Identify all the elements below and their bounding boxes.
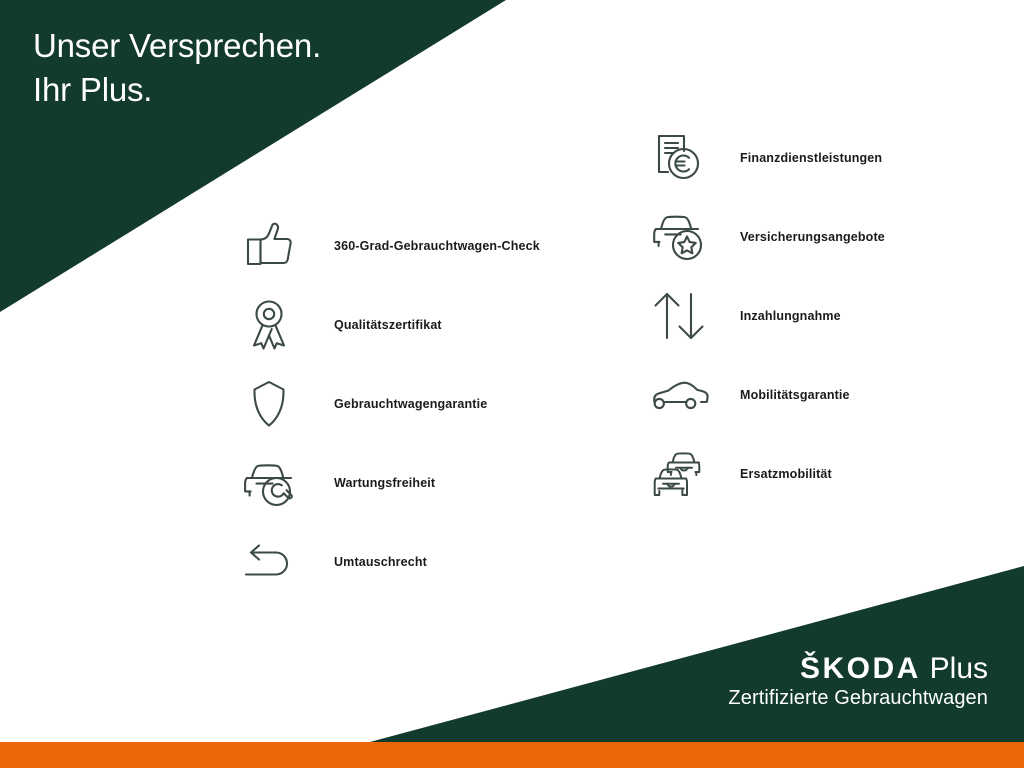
- feature-item: 360-Grad-Gebrauchtwagen-Check: [238, 206, 598, 285]
- headline-line-2: Ihr Plus.: [33, 71, 152, 108]
- feature-item: Gebrauchtwagengarantie: [238, 364, 598, 443]
- feature-label: Qualitätszertifikat: [334, 318, 442, 332]
- feature-item: Finanzdienstleistungen: [648, 118, 978, 197]
- document-euro-icon: [648, 127, 710, 189]
- return-arrow-icon: [238, 531, 300, 593]
- feature-label: Umtauschrecht: [334, 555, 427, 569]
- feature-label: Finanzdienstleistungen: [740, 151, 882, 165]
- brand-lockup: ŠKODA Plus Zertifizierte Gebrauchtwagen: [728, 653, 988, 712]
- feature-item: Wartungsfreiheit: [238, 443, 598, 522]
- thumbs-up-icon: [238, 215, 300, 277]
- car-star-icon: [648, 206, 710, 268]
- brand-title: ŠKODA Plus: [728, 653, 988, 685]
- car-side-icon: [648, 364, 710, 426]
- car-wrench-icon: [238, 452, 300, 514]
- feature-label: Ersatzmobilität: [740, 467, 832, 481]
- brand-subtitle: Zertifizierte Gebrauchtwagen: [728, 686, 988, 711]
- feature-item: Umtauschrecht: [238, 522, 598, 601]
- feature-label: Inzahlungnahme: [740, 309, 841, 323]
- two-cars-icon: [648, 443, 710, 505]
- feature-label: Wartungsfreiheit: [334, 476, 435, 490]
- headline: Unser Versprechen. Ihr Plus.: [33, 24, 463, 112]
- up-down-arrows-icon: [648, 285, 710, 347]
- award-rosette-icon: [238, 294, 300, 356]
- feature-label: Versicherungsangebote: [740, 230, 885, 244]
- feature-label: 360-Grad-Gebrauchtwagen-Check: [334, 239, 540, 253]
- orange-footer-bar: [0, 742, 1024, 768]
- feature-column-right: Finanzdienstleistungen Versicherungsange…: [648, 118, 978, 513]
- feature-item: Qualitätszertifikat: [238, 285, 598, 364]
- shield-icon: [238, 373, 300, 435]
- feature-item: Mobilitätsgarantie: [648, 355, 978, 434]
- skoda-wordmark: ŠKODA: [800, 652, 921, 685]
- promo-banner: Unser Versprechen. Ihr Plus. 360-Grad-Ge…: [0, 0, 1024, 768]
- feature-item: Ersatzmobilität: [648, 434, 978, 513]
- feature-column-left: 360-Grad-Gebrauchtwagen-Check Qualitätsz…: [238, 206, 598, 601]
- headline-line-1: Unser Versprechen.: [33, 27, 321, 64]
- feature-label: Mobilitätsgarantie: [740, 388, 850, 402]
- feature-item: Inzahlungnahme: [648, 276, 978, 355]
- feature-item: Versicherungsangebote: [648, 197, 978, 276]
- feature-label: Gebrauchtwagengarantie: [334, 397, 487, 411]
- brand-plus-label: Plus: [930, 652, 988, 685]
